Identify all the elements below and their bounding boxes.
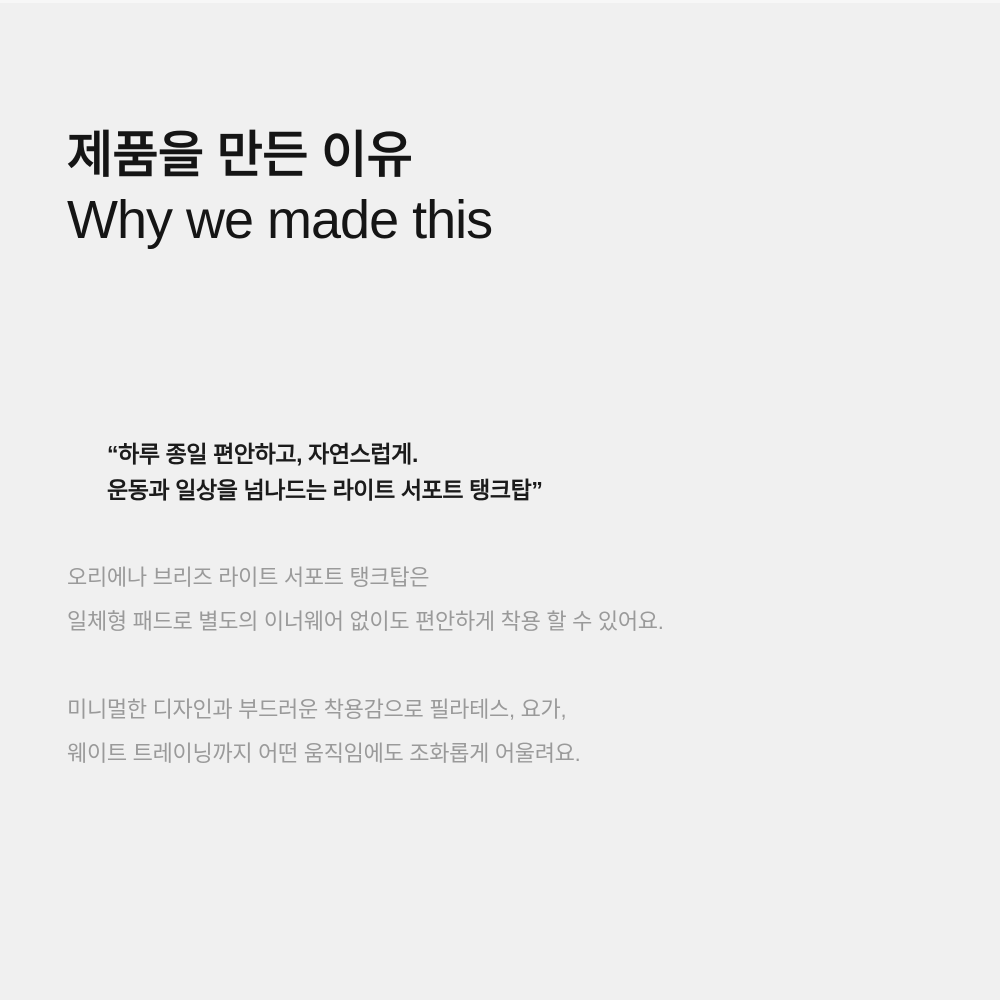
description-paragraph-2-line-1: 미니멀한 디자인과 부드러운 착용감으로 필라테스, 요가,: [67, 688, 947, 732]
description-paragraph-1-line-2: 일체형 패드로 별도의 이너웨어 없이도 편안하게 착용 할 수 있어요.: [67, 600, 947, 644]
page-title: 제품을 만든 이유 Why we made this: [67, 124, 927, 254]
description-paragraph-2-line-2: 웨이트 트레이닝까지 어떤 움직임에도 조화롭게 어울려요.: [67, 732, 947, 776]
description-paragraph-2: 미니멀한 디자인과 부드러운 착용감으로 필라테스, 요가, 웨이트 트레이닝까…: [67, 688, 947, 776]
quote-line-2: 운동과 일상을 넘나드는 라이트 서포트 탱크탑”: [107, 472, 967, 508]
product-tagline-quote: “하루 종일 편안하고, 자연스럽게. 운동과 일상을 넘나드는 라이트 서포트…: [107, 436, 967, 508]
description-paragraph-1: 오리에나 브리즈 라이트 서포트 탱크탑은 일체형 패드로 별도의 이너웨어 없…: [67, 556, 947, 644]
description-paragraph-1-line-1: 오리에나 브리즈 라이트 서포트 탱크탑은: [67, 556, 947, 600]
page-title-korean: 제품을 만든 이유: [67, 124, 927, 186]
page-title-english: Why we made this: [67, 186, 927, 254]
product-story-page: 제품을 만든 이유 Why we made this “하루 종일 편안하고, …: [0, 0, 1000, 1000]
quote-line-1: “하루 종일 편안하고, 자연스럽게.: [107, 436, 967, 472]
product-description: 오리에나 브리즈 라이트 서포트 탱크탑은 일체형 패드로 별도의 이너웨어 없…: [67, 556, 947, 776]
